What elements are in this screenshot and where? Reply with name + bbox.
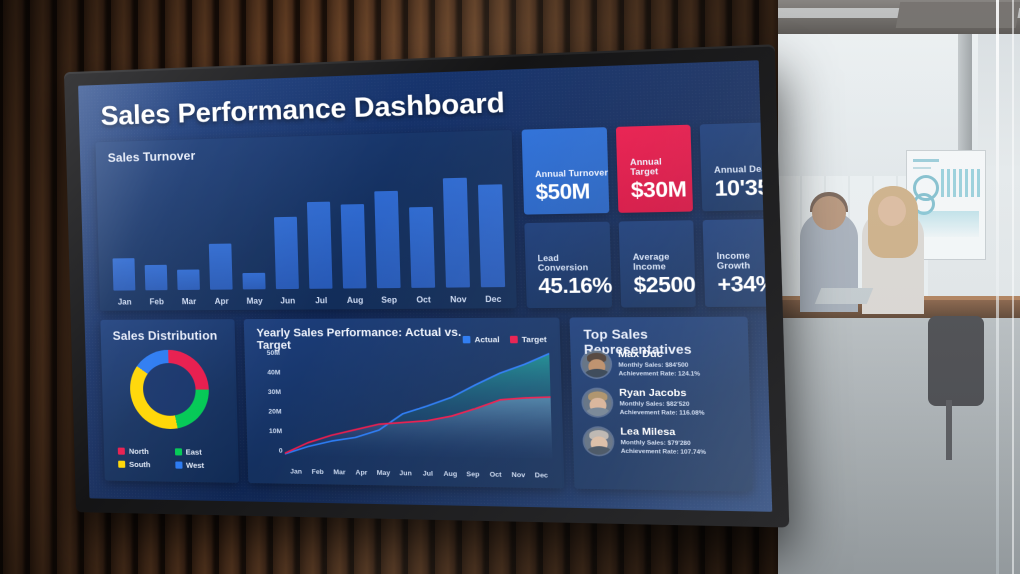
donut-chart[interactable] [129, 350, 210, 429]
legend-swatch [174, 448, 181, 455]
bar-axis-label: Jan [114, 297, 136, 306]
kpi-card-annual-target[interactable]: Annual Target$30M [616, 125, 693, 213]
legend-swatch [509, 335, 517, 342]
line-chart-area: 50M40M30M20M10M0 JanFebMarAprMayJunJulAu… [253, 347, 555, 481]
person-left-body [800, 212, 858, 312]
person-right-hair [868, 186, 918, 258]
x-axis-tick: May [372, 470, 394, 478]
legend-swatch [175, 461, 182, 468]
list-item[interactable]: Max DucMonthly Sales: $84'500Achievement… [582, 349, 740, 379]
ceiling-light [778, 8, 1020, 18]
line-chart-svg [282, 350, 552, 459]
bar-fill [113, 258, 136, 290]
kpi-value: $30M [630, 179, 692, 202]
kpi-grid: Annual Turnover$50MAnnual Target$30MAnnu… [522, 122, 773, 308]
x-axis-tick: Jun [394, 470, 416, 478]
bar-axis-label: Mar [178, 297, 201, 306]
flipchart-subheading [913, 167, 931, 169]
legend-label: South [129, 460, 151, 469]
x-axis-tick: Apr [350, 469, 372, 477]
bar-mar[interactable] [175, 184, 200, 290]
legend-item-target[interactable]: Target [509, 334, 546, 344]
kpi-card-lead-conversion[interactable]: Lead Conversion45.16% [524, 222, 612, 309]
y-axis-tick: 20M [257, 408, 282, 415]
bar-axis-label: Jul [310, 296, 333, 305]
bar-fill [374, 191, 400, 288]
desk-top [778, 296, 1020, 304]
scene: Sales Performance Dashboard Sales Turnov… [0, 0, 1020, 574]
bar-fill [177, 269, 200, 290]
avatar [582, 351, 611, 378]
x-axis-tick: Aug [439, 471, 462, 479]
y-axis-tick: 50M [255, 350, 280, 357]
sales-turnover-card[interactable]: Sales Turnover JanFebMarAprMayJunJulAugS… [95, 130, 516, 311]
legend-item-east[interactable]: East [174, 447, 228, 457]
line-chart-plot[interactable] [282, 350, 552, 459]
legend-swatch [118, 448, 125, 455]
kpi-label: Average Income [633, 252, 695, 272]
bar-axis-label: Aug [343, 296, 367, 306]
yearly-performance-card[interactable]: Yearly Sales Performance: Actual vs. Tar… [244, 318, 565, 489]
sales-distribution-card[interactable]: Sales Distribution NorthEastSouthWest [100, 319, 239, 483]
flipchart-donut2-icon [913, 193, 935, 215]
chair-base [946, 400, 952, 460]
laptop [815, 288, 873, 304]
kpi-label: Annual Turnover [535, 168, 609, 179]
donut-chart-wrap [101, 350, 237, 430]
display-screen[interactable]: Sales Performance Dashboard Sales Turnov… [78, 60, 772, 512]
bar-fill [242, 273, 265, 289]
flipchart-area-icon [913, 211, 979, 237]
legend-label: East [186, 447, 202, 456]
bar-jun[interactable] [273, 182, 299, 289]
bottom-row: Sales Distribution NorthEastSouthWest Ye… [100, 317, 752, 492]
glass-partition-edge [996, 0, 999, 574]
kpi-value: $2500 [633, 274, 695, 296]
kpi-value: $50M [535, 181, 609, 204]
line-chart-y-axis: 50M40M30M20M10M0 [255, 350, 283, 455]
ceiling-duct [896, 2, 1020, 28]
office-photo [778, 0, 1020, 574]
bar-sep[interactable] [374, 179, 401, 288]
bar-nov[interactable] [443, 178, 470, 288]
office-floor [778, 318, 1020, 574]
x-axis-tick: Feb [307, 469, 329, 477]
top-sales-representatives-card[interactable]: Top Sales Representatives Max DucMonthly… [570, 317, 753, 492]
sales-turnover-title: Sales Turnover [95, 130, 512, 165]
flipchart-donut-icon [913, 175, 939, 201]
rep-name: Lea Milesa [620, 427, 705, 440]
wall-mounted-display[interactable]: Sales Performance Dashboard Sales Turnov… [64, 44, 789, 527]
avatar [584, 428, 613, 455]
legend-swatch [118, 461, 125, 468]
bar-axis-label: Jun [276, 296, 299, 305]
x-axis-tick: Dec [530, 472, 553, 480]
bar-fill [443, 178, 470, 288]
legend-item-actual[interactable]: Actual [462, 334, 499, 344]
distribution-legend: NorthEastSouthWest [118, 447, 229, 471]
line-chart-legend: ActualTarget [462, 334, 546, 344]
page-title: Sales Performance Dashboard [100, 78, 741, 132]
structural-column [958, 30, 972, 260]
bar-fill [307, 202, 333, 289]
kpi-label: Income Growth [716, 250, 772, 271]
rep-name: Max Duc [618, 349, 700, 361]
rep-list: Max DucMonthly Sales: $84'500Achievement… [582, 349, 744, 485]
bar-fill [478, 184, 505, 287]
avatar-body [585, 408, 610, 417]
legend-label: West [186, 461, 204, 470]
bar-fill [409, 207, 435, 288]
bar-axis-label: Apr [210, 297, 233, 306]
line-chart-x-axis: JanFebMarAprMayJunJulAugSepOctNovDec [285, 468, 553, 480]
bar-jul[interactable] [306, 181, 332, 289]
bar-fill [341, 204, 367, 289]
avatar-body [586, 446, 611, 455]
legend-label: Actual [474, 334, 499, 344]
window-blind [778, 34, 978, 186]
office-chair [928, 316, 984, 406]
flipchart-board [906, 150, 986, 260]
ceiling [778, 0, 1020, 34]
bar-feb[interactable] [142, 185, 167, 291]
top-row: Sales Turnover JanFebMarAprMayJunJulAugS… [95, 123, 747, 311]
y-axis-tick: 0 [258, 447, 283, 455]
x-axis-tick: Mar [328, 469, 350, 477]
bar-fill [209, 243, 233, 289]
kpi-label: Lead Conversion [537, 253, 611, 273]
sales-distribution-title: Sales Distribution [100, 319, 235, 343]
bar-fill [145, 265, 168, 290]
bar-axis-label: Dec [481, 294, 505, 304]
bar-axis-label: May [243, 296, 266, 305]
sales-dashboard: Sales Performance Dashboard Sales Turnov… [78, 60, 772, 512]
kpi-card-income-growth[interactable]: Income Growth+34% [703, 219, 773, 307]
legend-label: North [129, 447, 149, 456]
flipchart-heading [913, 159, 939, 162]
x-axis-tick: Oct [484, 471, 507, 479]
turnover-bar-chart[interactable] [111, 177, 506, 291]
bar-axis-label: Sep [377, 295, 401, 305]
bar-jan[interactable] [111, 186, 136, 291]
rep-achievement-rate: Achievement Rate: 124.1% [619, 370, 701, 379]
bar-dec[interactable] [478, 177, 505, 287]
rep-achievement-rate: Achievement Rate: 107.74% [621, 448, 706, 458]
bar-axis-label: Feb [146, 297, 168, 306]
turnover-x-axis-labels: JanFebMarAprMayJunJulAugSepOctNovDec [114, 294, 506, 306]
bar-oct[interactable] [408, 179, 435, 288]
person-right-head [878, 196, 906, 226]
x-axis-tick: Jan [285, 468, 307, 476]
avatar [583, 389, 612, 416]
bar-may[interactable] [240, 182, 266, 289]
list-item[interactable]: Lea MilesaMonthly Sales: $79'280Achievem… [584, 427, 742, 458]
kpi-card-average-income[interactable]: Average Income$2500 [619, 220, 696, 307]
rep-achievement-rate: Achievement Rate: 116.08% [620, 409, 705, 418]
x-axis-tick: Sep [461, 471, 484, 479]
legend-item-west[interactable]: West [175, 460, 229, 470]
glass-partition-edge-2 [1012, 0, 1014, 574]
bar-apr[interactable] [207, 183, 232, 289]
bar-aug[interactable] [340, 180, 366, 288]
avatar-body [584, 369, 609, 378]
legend-item-north[interactable]: North [118, 447, 171, 457]
kpi-value: +34% [717, 274, 772, 296]
rep-name: Ryan Jacobs [619, 388, 704, 400]
list-item[interactable]: Ryan JacobsMonthly Sales: $82'520Achieve… [583, 388, 741, 418]
person-right-body [862, 210, 924, 314]
y-axis-tick: 10M [257, 428, 282, 435]
bar-axis-label: Oct [412, 295, 436, 305]
bar-fill [274, 217, 299, 289]
legend-item-south[interactable]: South [118, 460, 171, 470]
kpi-value: 45.16% [538, 275, 612, 297]
flipchart-bars-icon [941, 169, 981, 197]
y-axis-tick: 40M [255, 369, 280, 376]
y-axis-tick: 30M [256, 389, 281, 396]
bar-axis-label: Nov [446, 295, 470, 305]
rep-info: Max DucMonthly Sales: $84'500Achievement… [618, 349, 700, 379]
legend-label: Target [522, 334, 547, 344]
person-left-head [812, 196, 846, 230]
kpi-card-annual-turnover[interactable]: Annual Turnover$50M [522, 127, 610, 214]
legend-swatch [462, 335, 470, 342]
x-axis-tick: Jul [417, 470, 440, 478]
rep-info: Ryan JacobsMonthly Sales: $82'520Achieve… [619, 388, 705, 418]
window-panels [778, 176, 928, 296]
x-axis-tick: Nov [507, 472, 530, 480]
rep-monthly-sales: Monthly Sales: $84'500 [618, 361, 700, 370]
rep-info: Lea MilesaMonthly Sales: $79'280Achievem… [620, 427, 706, 457]
kpi-label: Annual Target [630, 156, 692, 177]
desk [778, 300, 1020, 318]
person-left-hair [810, 192, 848, 212]
